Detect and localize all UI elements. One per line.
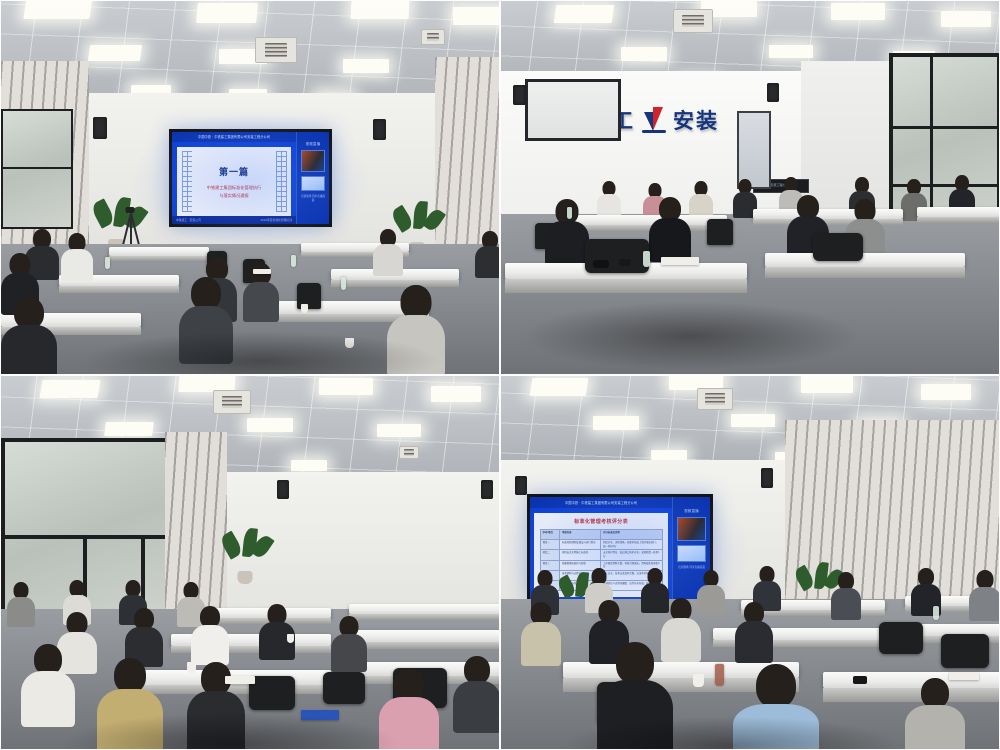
live-stream-thumbnail — [677, 517, 706, 541]
slide-ornament-right — [276, 151, 286, 212]
table-slide-title: 标准化管理考核评分表 — [540, 518, 663, 525]
desk — [349, 604, 500, 614]
ceiling-light — [530, 378, 589, 396]
eyeglass-case — [593, 260, 609, 268]
chair — [323, 672, 365, 704]
table-header-row: 序号/项目 考核内容 评分标准及说明 — [541, 530, 662, 540]
ceiling-light — [247, 418, 293, 432]
wall-speaker — [513, 85, 526, 105]
table-header-cell: 考核内容 — [560, 530, 601, 539]
chair — [879, 622, 923, 654]
ceiling-light — [593, 416, 639, 430]
table-row: 项目二 现场安全文明施工标准化 安全防护到位、临边洞口防护齐全，发现隐患一处扣1… — [541, 550, 662, 560]
attendee — [521, 602, 561, 662]
notebook — [225, 676, 255, 684]
water-bottle — [933, 606, 939, 620]
ceiling-light — [23, 0, 92, 19]
folder — [301, 710, 339, 720]
attendee — [373, 229, 403, 273]
ceiling-light — [39, 380, 100, 398]
water-bottle — [341, 277, 346, 290]
water-bottle — [105, 257, 110, 269]
attendee — [379, 668, 439, 750]
table-cell: 现场安全文明施工标准化 — [560, 550, 601, 559]
live-stream-note: 培训现场 同步直播画面 — [297, 195, 329, 203]
ac-vent-icon — [255, 37, 297, 63]
slide-footer: 中铁建工 · 安装公司 2024年度标准化管理培训 — [172, 216, 296, 224]
wall-speaker — [515, 476, 527, 495]
chair — [813, 233, 863, 261]
attendee — [831, 572, 861, 616]
table-cell: 项目二 — [541, 550, 560, 559]
ac-vent-icon — [421, 29, 445, 45]
attendee — [331, 616, 367, 670]
ceiling-light — [621, 47, 667, 61]
slide-subtitle-1: 中铁建工集团标准化管理执行 — [207, 184, 261, 191]
photo-top-left: 中国中铁 · 中铁建工集团有限公司安装工程分公司 第一篇 中铁建工集团标准化管理… — [0, 0, 500, 375]
slide-body: 第一篇 中铁建工集团标准化管理执行 与落实情况通报 — [177, 147, 291, 217]
water-bottle — [643, 251, 650, 267]
slide-topbar: 中国中铁 · 中铁建工集团有限公司安装工程分公司 — [172, 132, 296, 142]
attendee — [597, 642, 673, 750]
ceiling-light — [769, 45, 813, 58]
ac-vent-icon — [399, 446, 419, 459]
slide-chapter-title: 第一篇 — [219, 165, 249, 178]
ac-vent-icon — [673, 9, 713, 33]
notebook — [949, 672, 979, 680]
desk — [765, 253, 965, 267]
attendee — [597, 181, 621, 217]
paper-cup — [693, 674, 704, 687]
attendee — [259, 604, 295, 658]
ac-vent-icon — [697, 388, 733, 410]
table-cell: 标准化管理制度建设与执行情况 — [560, 540, 601, 549]
live-stream-label: 视频直播 — [306, 141, 321, 146]
wall-speaker — [481, 480, 493, 499]
slide-canvas: 中国中铁 · 中铁建工集团有限公司安装工程分公司 第一篇 中铁建工集团标准化管理… — [172, 132, 329, 224]
table-cell: 制度齐全、流程清晰，按要求张贴上墙并落实执行，缺一项扣2分 — [601, 540, 662, 549]
smartphone — [619, 259, 631, 266]
ceiling-light — [377, 424, 421, 437]
window — [1, 109, 73, 229]
ceiling-light — [88, 45, 142, 61]
ac-vent-icon — [213, 390, 251, 414]
desk — [353, 630, 500, 642]
slide-topbar: 中国中铁 · 中铁建工集团有限公司安装工程分公司 — [530, 497, 672, 508]
logo-text-right: 安装 — [673, 105, 719, 135]
ceiling-light — [921, 384, 971, 400]
attendee — [689, 181, 713, 217]
live-stream-thumbnail — [301, 150, 326, 171]
sail-logo-icon — [641, 107, 667, 133]
attendee — [61, 233, 93, 279]
attendee — [649, 197, 691, 259]
attendee — [21, 644, 75, 724]
paper-cup — [301, 304, 308, 313]
live-stream-label: 视频直播 — [684, 508, 699, 513]
ceiling-light — [651, 450, 687, 460]
whiteboard — [525, 79, 621, 141]
notebook — [253, 269, 271, 274]
ceiling-light — [431, 386, 481, 402]
attendee — [125, 608, 163, 664]
presentation-display: 中国中铁 · 中铁建工集团有限公司安装工程分公司 第一篇 中铁建工集团标准化管理… — [169, 129, 332, 227]
chair — [941, 634, 989, 668]
potted-plant — [227, 528, 263, 584]
ceiling-light — [831, 3, 885, 20]
paper-cup — [345, 338, 354, 348]
ceiling-light — [801, 376, 853, 393]
ceiling-light — [350, 0, 409, 19]
ceiling-light — [291, 460, 327, 471]
wall-speaker — [277, 480, 289, 499]
photo-bottom-left: 中国中铁 · 中铁建工集团有限公司安装工程分公司 文件 开始 插入 设计 切换 — [0, 375, 500, 750]
attendee — [97, 658, 163, 750]
ceiling-light — [731, 414, 775, 427]
chair — [707, 219, 733, 245]
ceiling-light — [941, 11, 991, 27]
smartphone — [853, 676, 867, 684]
desk — [917, 207, 1000, 217]
photo-bottom-right: 中国中铁 · 中铁建工集团有限公司安装工程分公司 标准化管理考核评分表 序号/项… — [500, 375, 1000, 750]
live-stream-thumbnail — [301, 176, 326, 191]
table-cell: 安全防护到位、临边洞口防护齐全，发现隐患一处扣1分 — [601, 550, 662, 559]
attendee — [191, 606, 229, 662]
slide-ornament-left — [182, 151, 192, 212]
slide-footer-left: 中铁建工 · 安装公司 — [176, 218, 201, 222]
attendee — [697, 570, 725, 612]
live-stream-thumbnail — [677, 545, 706, 562]
table-header-cell: 序号/项目 — [541, 530, 560, 539]
attendee — [969, 570, 1000, 616]
attendee — [905, 678, 965, 750]
ceiling-light — [453, 7, 500, 25]
water-bottle — [291, 255, 296, 267]
desk — [109, 247, 209, 256]
attendee — [735, 602, 773, 660]
wall-speaker — [761, 468, 773, 488]
attendee — [733, 664, 819, 750]
photo-top-right: 建工 安装 安装工程分公司 — [500, 0, 1000, 375]
table-header-cell: 评分标准及说明 — [601, 530, 662, 539]
attendee — [7, 582, 35, 624]
wall-speaker — [93, 117, 107, 139]
ceiling-light — [196, 3, 258, 23]
table-row: 项目一 标准化管理制度建设与执行情况 制度齐全、流程清晰，按要求张贴上墙并落实执… — [541, 540, 662, 550]
table-cell: 项目一 — [541, 540, 560, 549]
paper-cup — [187, 662, 196, 673]
attendee — [387, 285, 445, 373]
ceiling-light — [343, 59, 389, 73]
water-bottle — [567, 207, 572, 219]
table-cell: 项目三 — [541, 561, 560, 570]
paper-cup — [287, 634, 294, 643]
ceiling-light — [554, 5, 615, 23]
attendee — [179, 277, 233, 359]
attendee — [453, 656, 500, 730]
wall-speaker — [373, 119, 386, 140]
attendee — [1, 297, 57, 375]
photo-collage: 中国中铁 · 中铁建工集团有限公司安装工程分公司 第一篇 中铁建工集团标准化管理… — [0, 0, 1000, 750]
ceiling-light — [104, 422, 154, 436]
door — [737, 111, 771, 189]
slide-side-panel: 视频直播 培训现场 同步直播画面 — [296, 132, 329, 224]
attendee — [475, 231, 500, 275]
ceiling-light — [319, 378, 373, 395]
slide-subtitle-2: 与落实情况通报 — [219, 192, 248, 199]
notebook — [661, 257, 699, 265]
chair — [249, 676, 295, 710]
wall-speaker — [767, 83, 779, 102]
tumbler — [715, 664, 724, 686]
slide-footer-right: 2024年度标准化管理培训 — [261, 218, 292, 222]
